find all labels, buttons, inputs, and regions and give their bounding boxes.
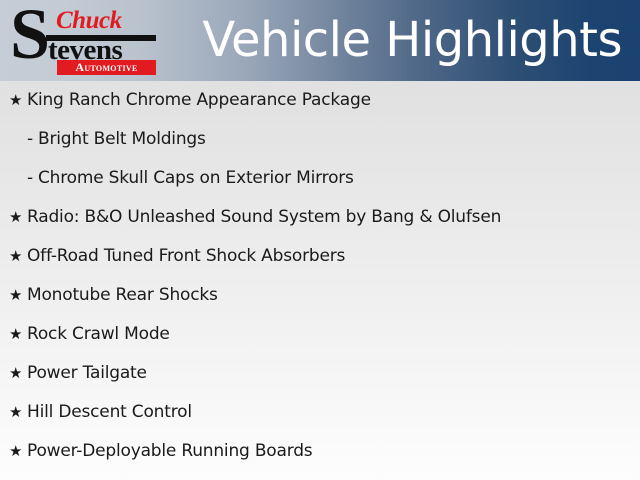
dealer-logo: S Chuck tevens Automotive bbox=[8, 4, 158, 74]
feature-label: Power Tailgate bbox=[27, 354, 147, 393]
star-icon: ★ bbox=[9, 276, 25, 315]
feature-item: ★Hill Descent Control bbox=[0, 393, 640, 432]
star-icon: ★ bbox=[9, 354, 25, 393]
feature-label: Radio: B&O Unleashed Sound System by Ban… bbox=[27, 198, 501, 237]
star-icon: ★ bbox=[9, 81, 25, 120]
feature-label: Power-Deployable Running Boards bbox=[27, 432, 312, 471]
feature-label: Chrome Skull Caps on Exterior Mirrors bbox=[38, 159, 354, 198]
logo-monogram-s: S bbox=[10, 0, 48, 70]
feature-item: ★Monotube Rear Shocks bbox=[0, 276, 640, 315]
star-icon: ★ bbox=[9, 393, 25, 432]
feature-label: Rock Crawl Mode bbox=[27, 315, 170, 354]
star-icon: ★ bbox=[9, 315, 25, 354]
feature-item: ★Power-Deployable Running Boards bbox=[0, 432, 640, 471]
feature-item: ★Power Tailgate bbox=[0, 354, 640, 393]
slide-header: S Chuck tevens Automotive Vehicle Highli… bbox=[0, 0, 640, 81]
feature-sub-item: -Bright Belt Moldings bbox=[0, 120, 640, 159]
feature-sub-item: -Chrome Skull Caps on Exterior Mirrors bbox=[0, 159, 640, 198]
star-icon: ★ bbox=[9, 198, 25, 237]
logo-tagline-text: Automotive bbox=[57, 60, 156, 75]
feature-item: ★Off-Road Tuned Front Shock Absorbers bbox=[0, 237, 640, 276]
feature-item: ★King Ranch Chrome Appearance Package bbox=[0, 81, 640, 120]
feature-item: ★Rock Crawl Mode bbox=[0, 315, 640, 354]
feature-label: King Ranch Chrome Appearance Package bbox=[27, 81, 371, 120]
feature-item: ★Radio: B&O Unleashed Sound System by Ba… bbox=[0, 198, 640, 237]
feature-label: Off-Road Tuned Front Shock Absorbers bbox=[27, 237, 345, 276]
feature-label: Hill Descent Control bbox=[27, 393, 192, 432]
feature-label: Bright Belt Moldings bbox=[38, 120, 206, 159]
star-icon: ★ bbox=[9, 237, 25, 276]
feature-label: Monotube Rear Shocks bbox=[27, 276, 218, 315]
vehicle-highlights-slide: S Chuck tevens Automotive Vehicle Highli… bbox=[0, 0, 640, 480]
logo-text-chuck: Chuck bbox=[56, 8, 122, 33]
star-icon: ★ bbox=[9, 432, 25, 471]
feature-list: ★King Ranch Chrome Appearance Package-Br… bbox=[0, 81, 640, 480]
page-title: Vehicle Highlights bbox=[202, 6, 622, 74]
logo-tagline-bar: Automotive bbox=[57, 60, 156, 75]
